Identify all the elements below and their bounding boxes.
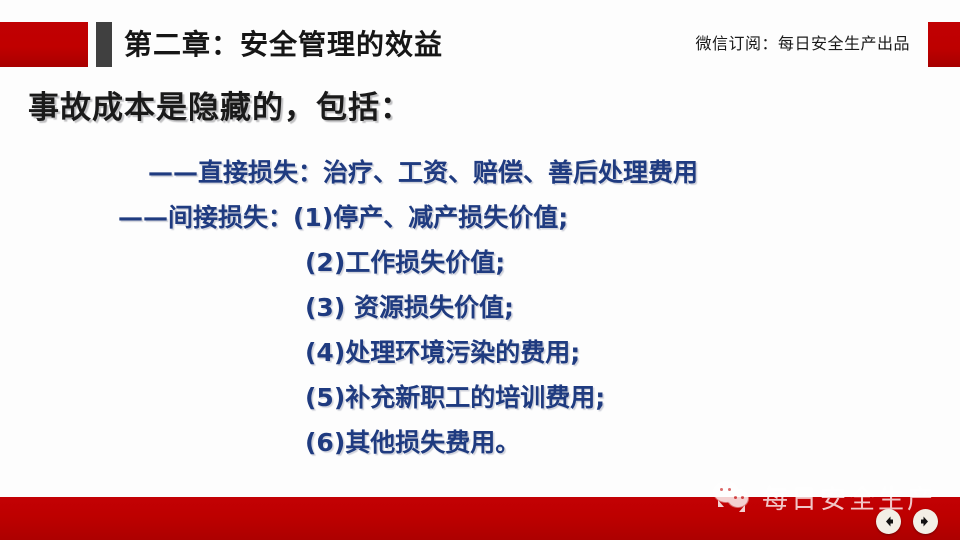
content-line: (4)处理环境污染的费用; — [0, 330, 960, 375]
content-line: (3) 资源损失价值; — [0, 285, 960, 330]
slide-heading: 事故成本是隐藏的，包括： — [28, 82, 412, 127]
chapter-title: 第二章：安全管理的效益 — [124, 24, 443, 66]
content-line: (2)工作损失价值; — [0, 240, 960, 285]
header-red-block-left — [0, 22, 88, 67]
content-line: (5)补充新职工的培训费用; — [0, 375, 960, 420]
next-slide-button[interactable] — [913, 509, 938, 534]
header-red-block-right — [928, 22, 960, 67]
content-line: (6)其他损失费用。 — [0, 420, 960, 465]
slide-navigation — [876, 509, 938, 534]
publisher-subtitle: 微信订阅：每日安全生产出品 — [695, 30, 910, 58]
prev-slide-button[interactable] — [876, 509, 901, 534]
content-list: ——直接损失：治疗、工资、赔偿、善后处理费用 ——间接损失：(1)停产、减产损失… — [0, 150, 960, 465]
content-line: ——间接损失：(1)停产、减产损失价值; — [0, 195, 960, 240]
footer-red-bar — [0, 497, 960, 540]
arrow-left-icon — [882, 515, 895, 528]
header-gray-marker — [96, 22, 112, 67]
content-line: ——直接损失：治疗、工资、赔偿、善后处理费用 — [0, 150, 960, 195]
slide-canvas: 第二章：安全管理的效益 微信订阅：每日安全生产出品 事故成本是隐藏的，包括： —… — [0, 0, 960, 540]
arrow-right-icon — [919, 515, 932, 528]
